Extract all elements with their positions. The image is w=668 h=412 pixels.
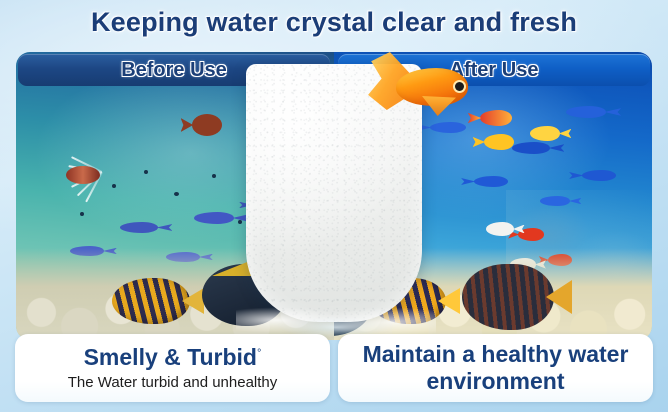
fish-speck	[112, 184, 116, 188]
tang-fish	[462, 264, 554, 330]
caption-after: Maintain a healthy water environment	[338, 334, 653, 402]
caption-before-heading: Smelly & Turbid°	[84, 345, 262, 370]
fish-speck	[144, 170, 148, 174]
promo-banner: Keeping water crystal clear and fresh	[0, 0, 668, 412]
fish	[120, 222, 158, 233]
degree-icon: °	[257, 347, 261, 359]
fish-speck	[212, 174, 216, 178]
fish-speck	[174, 192, 179, 196]
goldfish	[370, 52, 474, 114]
white-fish	[486, 222, 514, 236]
page-title: Keeping water crystal clear and fresh	[0, 7, 668, 38]
fish	[512, 142, 550, 154]
goldfish-fin	[422, 96, 456, 116]
yellow-fish	[530, 126, 560, 141]
fish	[194, 212, 234, 224]
goldfish-eye	[455, 82, 464, 91]
fish	[566, 106, 606, 118]
fish-speck	[238, 220, 242, 224]
clownfish	[480, 110, 512, 126]
starfish	[192, 114, 222, 136]
fish	[474, 176, 508, 187]
caption-after-heading-line2: environment	[426, 368, 564, 395]
lionfish	[40, 144, 120, 200]
caption-before: Smelly & Turbid° The Water turbid and un…	[15, 334, 330, 402]
fish	[582, 170, 616, 181]
angelfish	[112, 278, 190, 324]
badge-before-use-label: Before Use	[121, 59, 227, 82]
caption-before-heading-text: Smelly & Turbid	[84, 344, 257, 370]
fish	[430, 122, 466, 133]
caption-before-subtext: The Water turbid and unhealthy	[68, 374, 278, 391]
fish	[540, 196, 570, 206]
yellow-fish	[484, 134, 514, 150]
fish-speck	[80, 212, 84, 216]
caption-after-heading-line1: Maintain a healthy water	[363, 341, 629, 368]
